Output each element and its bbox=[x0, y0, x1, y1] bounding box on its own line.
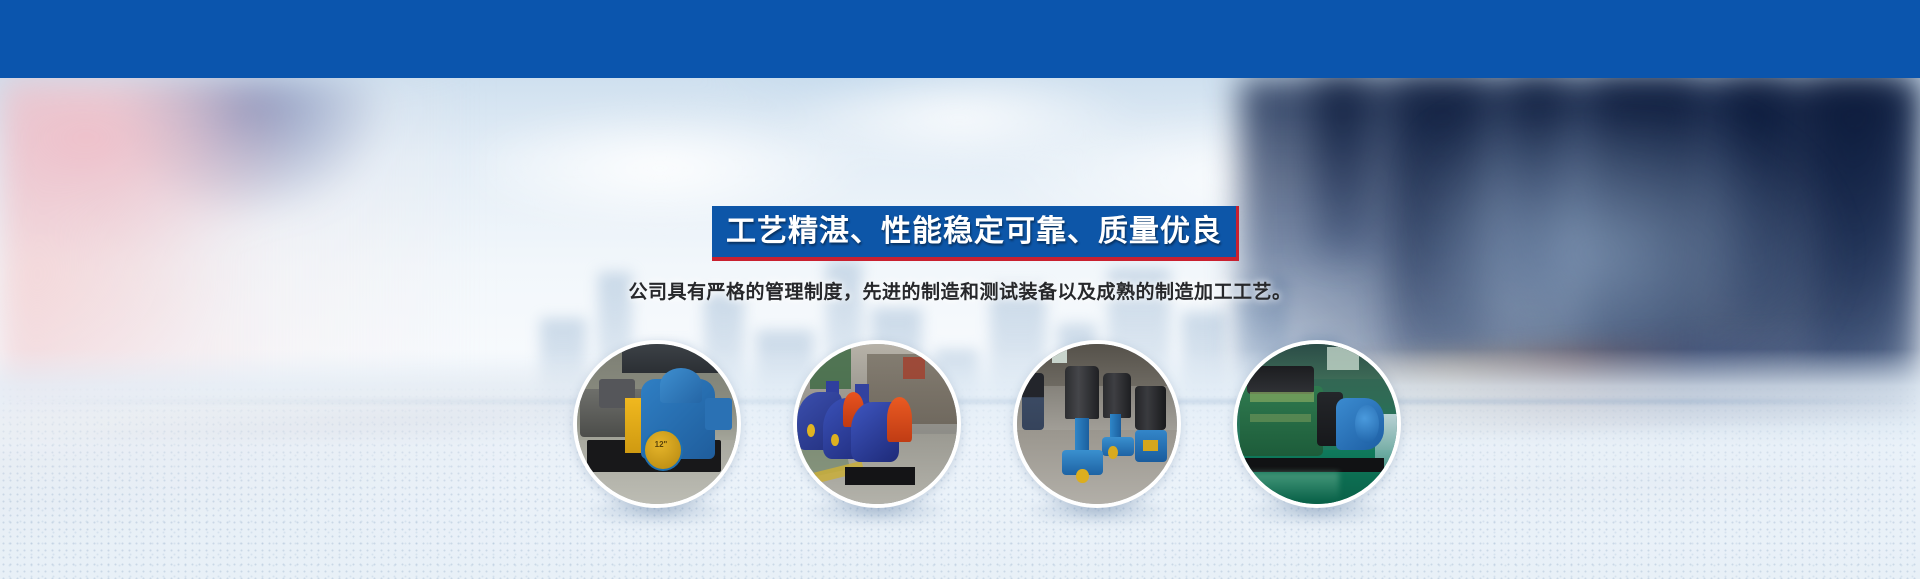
headline-text: 工艺精湛、性能稳定可靠、质量优良 bbox=[726, 217, 1222, 247]
product-photo-3[interactable] bbox=[1013, 340, 1181, 508]
photo-diesel-engine-pump-set bbox=[1237, 344, 1397, 504]
product-photo-4[interactable] bbox=[1233, 340, 1401, 508]
photo-split-case-pump: 12" bbox=[577, 344, 737, 504]
photo-circle-frame: 12" bbox=[573, 340, 741, 508]
photo-vertical-inline-pumps bbox=[1017, 344, 1177, 504]
photo-circle-frame bbox=[1233, 340, 1401, 508]
product-photo-2[interactable] bbox=[793, 340, 961, 508]
photo-circle-frame bbox=[793, 340, 961, 508]
photo-circle-frame bbox=[1013, 340, 1181, 508]
top-blue-bar bbox=[0, 0, 1920, 78]
flange-size-label: 12" bbox=[643, 440, 680, 449]
subtitle-text: 公司具有严格的管理制度，先进的制造和测试装备以及成熟的制造加工工艺。 bbox=[0, 283, 1920, 302]
product-photo-1[interactable]: 12" bbox=[573, 340, 741, 508]
photo-slurry-pump-row bbox=[797, 344, 957, 504]
hero-banner: 工艺精湛、性能稳定可靠、质量优良 公司具有严格的管理制度，先进的制造和测试装备以… bbox=[0, 0, 1920, 579]
headline-box: 工艺精湛、性能稳定可靠、质量优良 bbox=[712, 206, 1239, 261]
